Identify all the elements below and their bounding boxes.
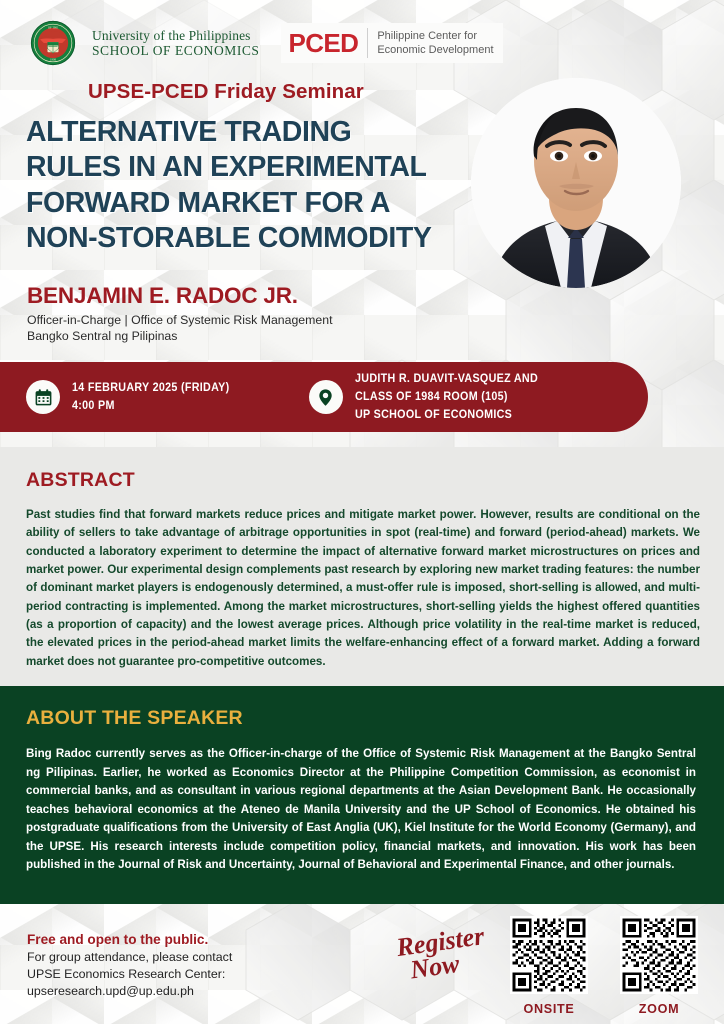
up-logo-text: University of the Philippines SCHOOL OF …	[92, 28, 259, 58]
contact-email[interactable]: upseresearch.upd@up.edu.ph	[27, 983, 232, 1000]
qr-code-icon[interactable]	[510, 916, 588, 994]
event-time-line2: 4:00 PM	[72, 397, 230, 415]
seminar-kicker: UPSE-PCED Friday Seminar	[88, 80, 364, 104]
abstract-heading: ABSTRACT	[26, 469, 700, 492]
speaker-affiliation-line1: Officer-in-Charge | Office of Systemic R…	[27, 312, 333, 328]
contact-line-1: For group attendance, please contact	[27, 949, 232, 966]
event-venue-line2: CLASS OF 1984 ROOM (105)	[355, 388, 538, 406]
contact-line-2: UPSE Economics Research Center:	[27, 966, 232, 983]
header-logos: OF THE 1908 University of the Philippine…	[30, 20, 503, 66]
speaker-portrait	[471, 78, 681, 288]
title-line-3: FORWARD MARKET FOR A	[26, 186, 496, 221]
event-date-text: 14 FEBRUARY 2025 (FRIDAY) 4:00 PM	[72, 379, 230, 414]
qr-onsite[interactable]: ONSITE	[510, 916, 588, 1016]
free-notice: Free and open to the public.	[27, 932, 232, 947]
title-line-2: RULES IN AN EXPERIMENTAL	[26, 150, 496, 185]
pced-logo: PCED Philippine Center for Economic Deve…	[281, 23, 502, 63]
event-venue-text: JUDITH R. DUAVIT-VASQUEZ AND CLASS OF 19…	[355, 370, 538, 423]
pced-subtitle: Philippine Center for Economic Developme…	[377, 29, 493, 58]
title-line-4: NON-STORABLE COMMODITY	[26, 221, 496, 256]
qr-code-group: ONSITE	[510, 916, 698, 1016]
abstract-body: Past studies find that forward markets r…	[26, 506, 700, 671]
abstract-section: ABSTRACT Past studies find that forward …	[0, 447, 724, 686]
footer-contact-block: Free and open to the public. For group a…	[27, 932, 232, 1000]
qr-code-icon[interactable]	[620, 916, 698, 994]
event-details-banner: 14 FEBRUARY 2025 (FRIDAY) 4:00 PM JUDITH…	[0, 362, 648, 432]
svg-text:OF THE: OF THE	[48, 26, 58, 30]
event-date-block: 14 FEBRUARY 2025 (FRIDAY) 4:00 PM	[26, 379, 251, 414]
up-seal-icon: OF THE 1908	[30, 20, 76, 66]
about-speaker-section: ABOUT THE SPEAKER Bing Radoc currently s…	[0, 686, 724, 904]
event-venue-block: JUDITH R. DUAVIT-VASQUEZ AND CLASS OF 19…	[309, 370, 563, 423]
qr-zoom[interactable]: ZOOM	[620, 916, 698, 1016]
pced-subtitle-line1: Philippine Center for	[377, 29, 493, 43]
qr-onsite-label: ONSITE	[510, 1002, 588, 1016]
event-venue-line1: JUDITH R. DUAVIT-VASQUEZ AND	[355, 370, 538, 388]
svg-text:1908: 1908	[50, 57, 56, 61]
page-title: ALTERNATIVE TRADING RULES IN AN EXPERIME…	[26, 115, 496, 256]
up-logo-line1: University of the Philippines	[92, 28, 259, 43]
calendar-icon	[26, 380, 60, 414]
title-line-1: ALTERNATIVE TRADING	[26, 115, 496, 150]
pced-divider	[367, 28, 368, 58]
pced-wordmark: PCED	[288, 30, 358, 56]
pced-subtitle-line2: Economic Development	[377, 43, 493, 57]
about-speaker-body: Bing Radoc currently serves as the Offic…	[26, 745, 696, 875]
speaker-name: BENJAMIN E. RADOC JR.	[27, 283, 298, 309]
location-pin-icon	[309, 380, 343, 414]
about-speaker-heading: ABOUT THE SPEAKER	[26, 707, 696, 730]
event-venue-line3: UP SCHOOL OF ECONOMICS	[355, 406, 538, 424]
qr-zoom-label: ZOOM	[620, 1002, 698, 1016]
speaker-affiliation-line2: Bangko Sentral ng Pilipinas	[27, 328, 333, 344]
seminar-poster: OF THE 1908 University of the Philippine…	[0, 0, 724, 1024]
speaker-affiliation: Officer-in-Charge | Office of Systemic R…	[27, 312, 333, 344]
event-date-line1: 14 FEBRUARY 2025 (FRIDAY)	[72, 379, 230, 397]
up-logo-line2: SCHOOL OF ECONOMICS	[92, 43, 259, 58]
